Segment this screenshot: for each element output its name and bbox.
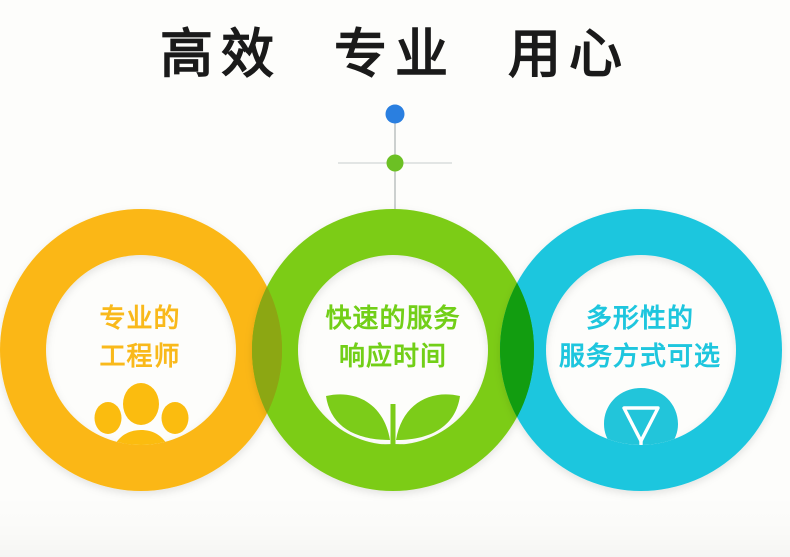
circle-label-response: 快速的服务 响应时间 <box>278 300 508 376</box>
venn-ring-group <box>0 0 790 557</box>
circle-label-engineers: 专业的 工程师 <box>25 300 255 376</box>
circle-label-flexible: 多形性的 服务方式可选 <box>525 300 755 376</box>
circle-label-response-line-2: 响应时间 <box>278 338 508 376</box>
circle-label-flexible-line-1: 多形性的 <box>525 300 755 338</box>
circle-label-engineers-line-1: 专业的 <box>25 300 255 338</box>
circle-label-flexible-line-2: 服务方式可选 <box>525 338 755 376</box>
infographic-canvas: 高效专业用心 <box>0 0 790 557</box>
circle-label-response-line-1: 快速的服务 <box>278 300 508 338</box>
circle-label-engineers-line-2: 工程师 <box>25 338 255 376</box>
bottom-shadow-strip <box>0 495 790 557</box>
